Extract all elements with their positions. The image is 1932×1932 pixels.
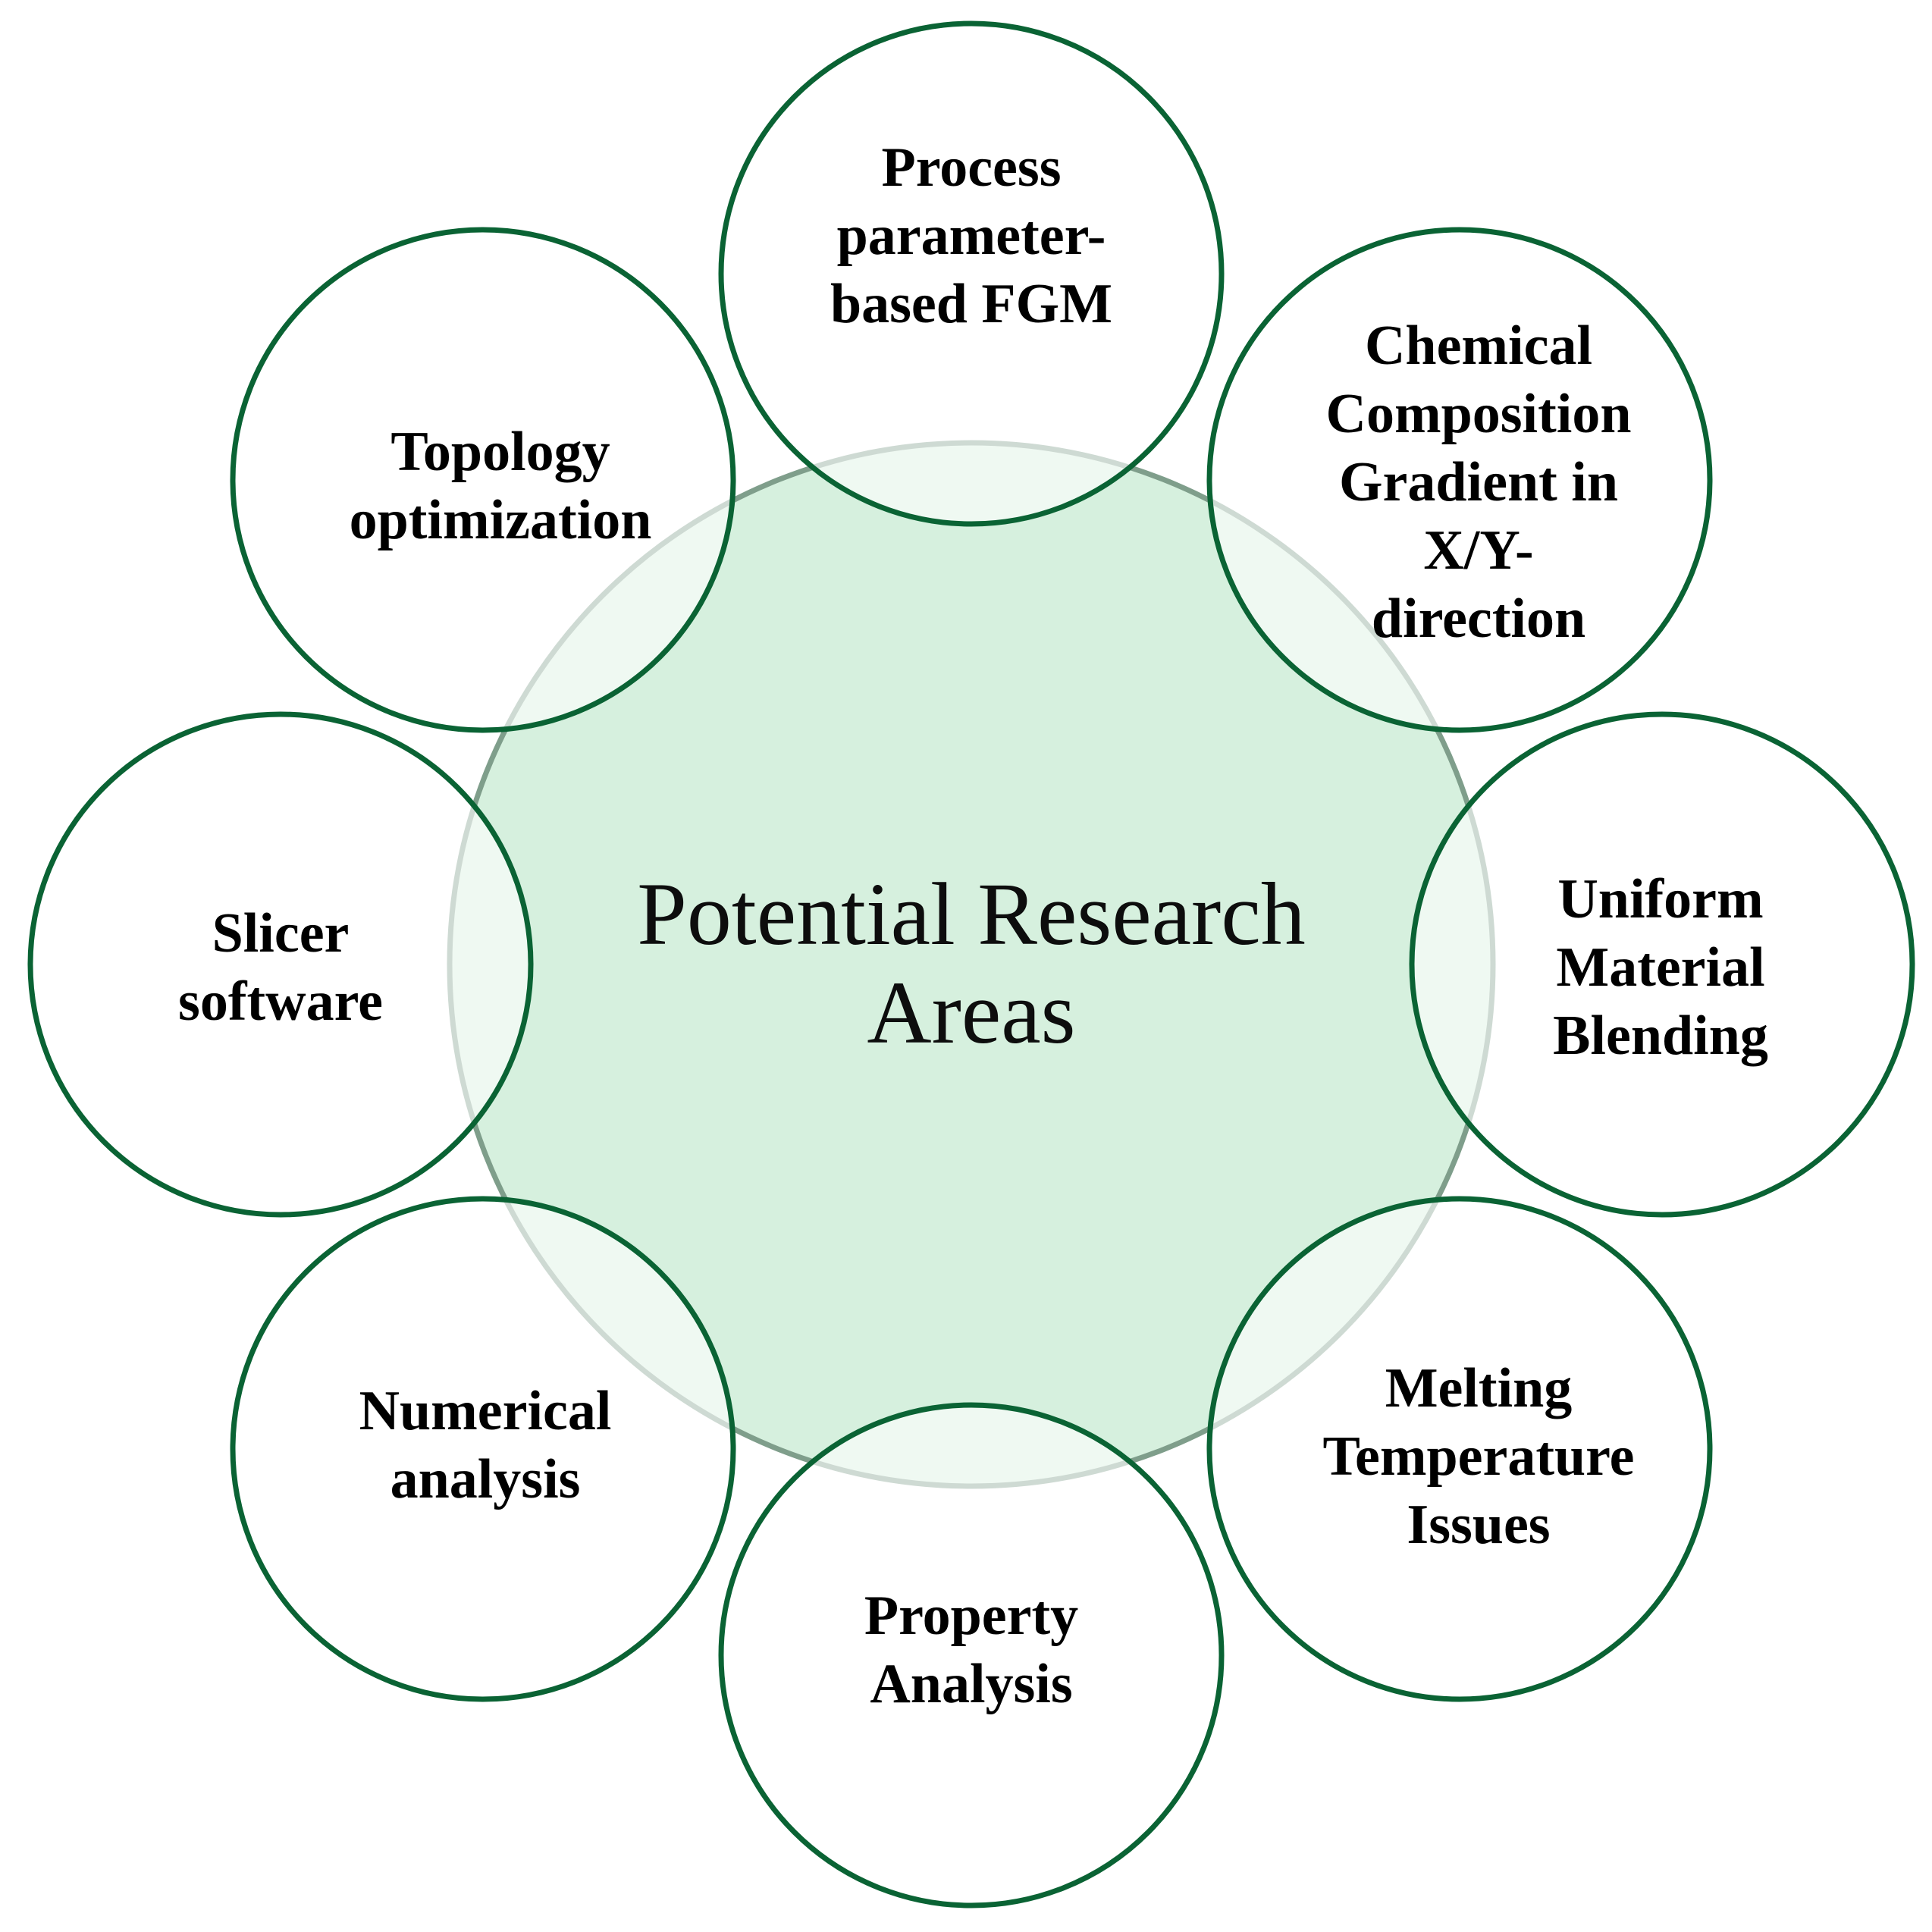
- node-label-line: Numerical: [359, 1380, 612, 1442]
- node-label-chemical-composition-gradient: Chemical Composition Gradient in X/Y- di…: [1326, 315, 1632, 650]
- node-label-line: optimization: [350, 489, 652, 551]
- node-label-line: Material: [1556, 936, 1764, 999]
- diagram-canvas: Potential Research Areas Process paramet…: [0, 0, 1932, 1932]
- node-label-line: Property: [864, 1585, 1078, 1647]
- node-label-line: Composition: [1326, 383, 1632, 445]
- potential-research-areas-venn-diagram: Potential Research Areas Process paramet…: [0, 0, 1932, 1932]
- node-label-line: Issues: [1407, 1494, 1550, 1556]
- node-label-line: Analysis: [870, 1653, 1072, 1715]
- node-label-line: Melting: [1385, 1357, 1573, 1419]
- node-label-line: Uniform: [1557, 868, 1763, 930]
- center-label-line-2: Areas: [867, 963, 1075, 1062]
- node-label-line: direction: [1372, 588, 1585, 650]
- node-label-line: Chemical: [1365, 315, 1592, 377]
- node-label-line: Slicer: [212, 902, 350, 964]
- center-label-line-1: Potential Research: [637, 864, 1305, 964]
- node-label-line: Blending: [1553, 1005, 1768, 1067]
- node-label-line: software: [178, 971, 383, 1033]
- node-label-line: Gradient in: [1339, 451, 1618, 513]
- node-label-line: based FGM: [830, 273, 1112, 335]
- node-label-line: X/Y-: [1423, 519, 1533, 582]
- node-label-line: Process: [882, 136, 1062, 199]
- node-label-line: parameter-: [837, 205, 1106, 267]
- node-label-line: Temperature: [1322, 1425, 1634, 1488]
- node-circle-slicer-software[interactable]: [30, 714, 531, 1215]
- node-label-line: analysis: [390, 1448, 581, 1510]
- node-label-line: Topology: [390, 421, 610, 483]
- node-label-uniform-material-blending: Uniform Material Blending: [1553, 868, 1768, 1067]
